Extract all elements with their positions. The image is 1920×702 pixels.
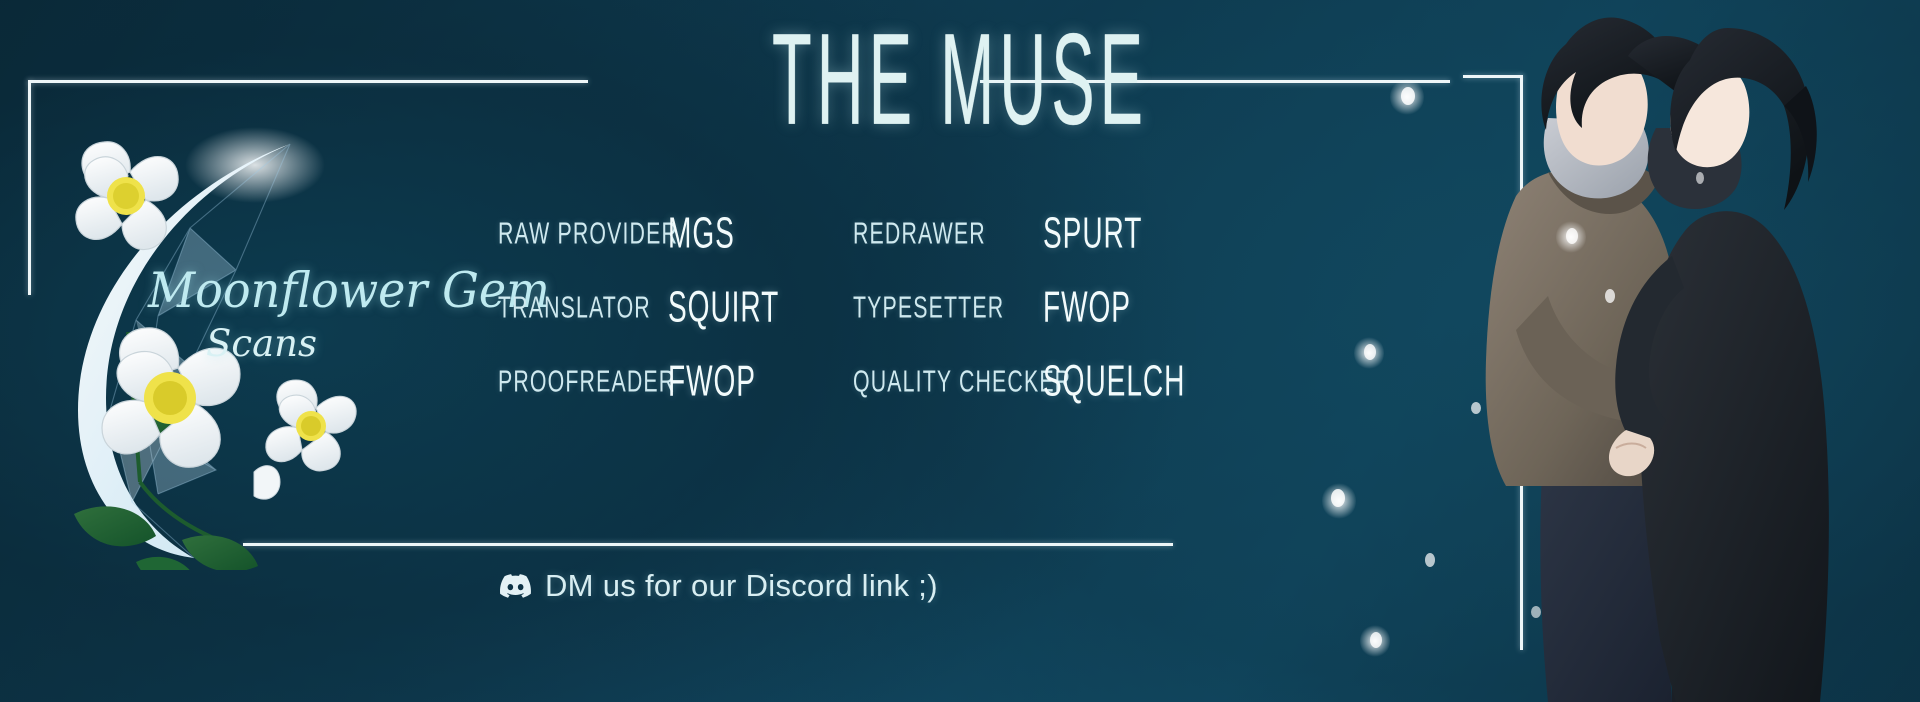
credit-role-proofreader: PROOFREADER xyxy=(498,363,637,400)
credit-name-translator: SQUIRT xyxy=(668,282,812,332)
credit-role-quality-checker: QUALITY CHECKER xyxy=(853,363,1009,400)
moonflower-icon xyxy=(102,328,240,467)
discord-icon xyxy=(500,574,531,598)
credit-name-raw-provider: MGS xyxy=(668,208,812,258)
credit-name-proofreader: FWOP xyxy=(668,356,812,406)
moonflower-icon xyxy=(76,142,178,250)
moonflower-icon xyxy=(266,380,356,471)
credit-name-quality-checker: SQUELCH xyxy=(1043,356,1180,406)
credits-table: RAW PROVIDER MGS REDRAWER SPURT TRANSLAT… xyxy=(498,196,1178,418)
credit-role-redrawer: REDRAWER xyxy=(853,215,1009,252)
credit-name-typesetter: FWOP xyxy=(1043,282,1180,332)
crescent-moon-icon xyxy=(40,110,460,570)
logo: Moonflower Gem Scans xyxy=(40,110,460,570)
frame-line-left xyxy=(28,80,31,295)
credit-role-translator: TRANSLATOR xyxy=(498,289,637,326)
discord-link-row[interactable]: DM us for our Discord link ;) xyxy=(500,568,938,604)
credit-name-redrawer: SPURT xyxy=(1043,208,1180,258)
credit-role-typesetter: TYPESETTER xyxy=(853,289,1009,326)
credits-banner: THE MUSE xyxy=(0,0,1920,702)
illustration-couple xyxy=(1280,0,1920,702)
discord-link-text: DM us for our Discord link ;) xyxy=(545,568,938,604)
couple-artwork xyxy=(1280,0,1920,702)
credit-role-raw-provider: RAW PROVIDER xyxy=(498,215,637,252)
